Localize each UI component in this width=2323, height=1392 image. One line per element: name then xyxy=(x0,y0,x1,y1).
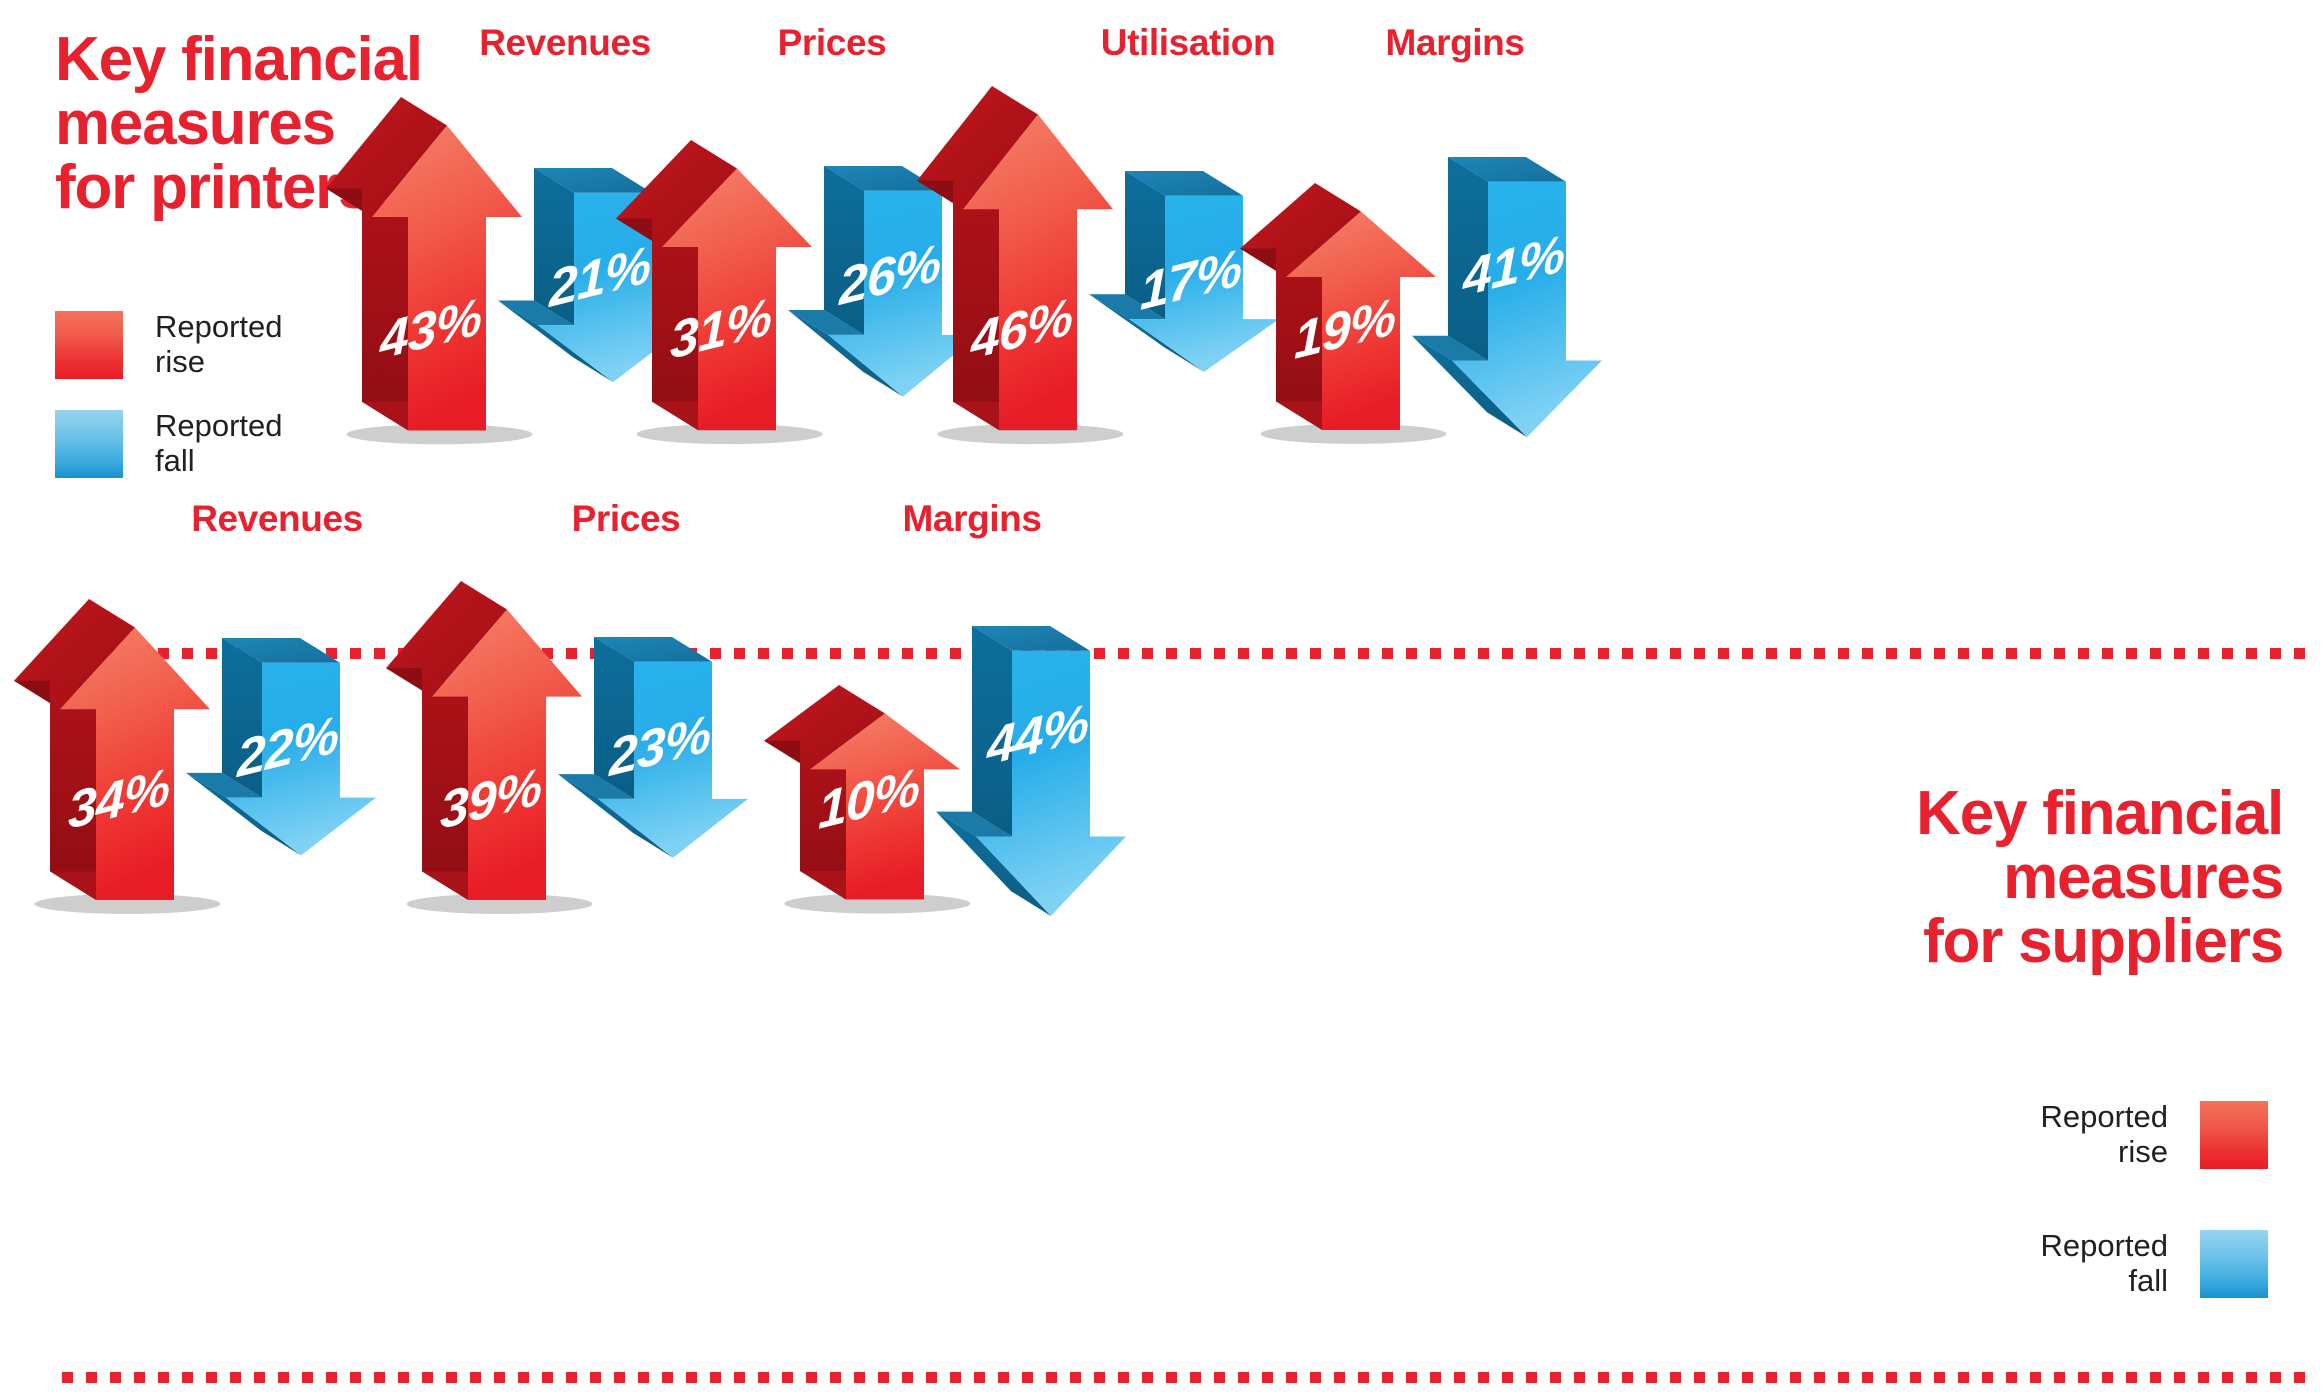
page-title-suppliers: Key financial measures for suppliers xyxy=(1663,782,2283,974)
legend-swatch-rise-icon xyxy=(55,311,123,379)
fall-arrow-margins xyxy=(976,626,1172,922)
legend-label-fall: Reported fall xyxy=(2040,1229,2168,1298)
legend-label-rise: Reported rise xyxy=(2040,1100,2168,1169)
group-label-revenues: Revenues xyxy=(479,22,651,64)
group-label-margins: Margins xyxy=(902,498,1041,540)
group-label-prices: Prices xyxy=(572,498,681,540)
legend-item-rise: Reported rise xyxy=(55,310,283,379)
legend-item-fall: Reported fall xyxy=(2040,1229,2268,1298)
legend-printers: Reported rise Reported fall xyxy=(55,310,283,509)
legend-suppliers: Reported rise Reported fall xyxy=(2040,1100,2268,1359)
legend-label-fall: Reported fall xyxy=(155,409,283,478)
legend-swatch-fall-icon xyxy=(2200,1230,2268,1298)
group-label-utilisation: Utilisation xyxy=(1101,22,1275,64)
group-label-prices: Prices xyxy=(778,22,887,64)
infographic-canvas: Key financial measures for printers Key … xyxy=(0,0,2323,1392)
legend-item-rise: Reported rise xyxy=(2040,1100,2268,1169)
legend-label-rise: Reported rise xyxy=(155,310,283,379)
legend-item-fall: Reported fall xyxy=(55,409,283,478)
legend-swatch-rise-icon xyxy=(2200,1101,2268,1169)
dotted-divider-bottom xyxy=(62,1372,2315,1383)
legend-swatch-fall-icon xyxy=(55,410,123,478)
group-label-margins: Margins xyxy=(1385,22,1524,64)
group-label-revenues: Revenues xyxy=(191,498,363,540)
